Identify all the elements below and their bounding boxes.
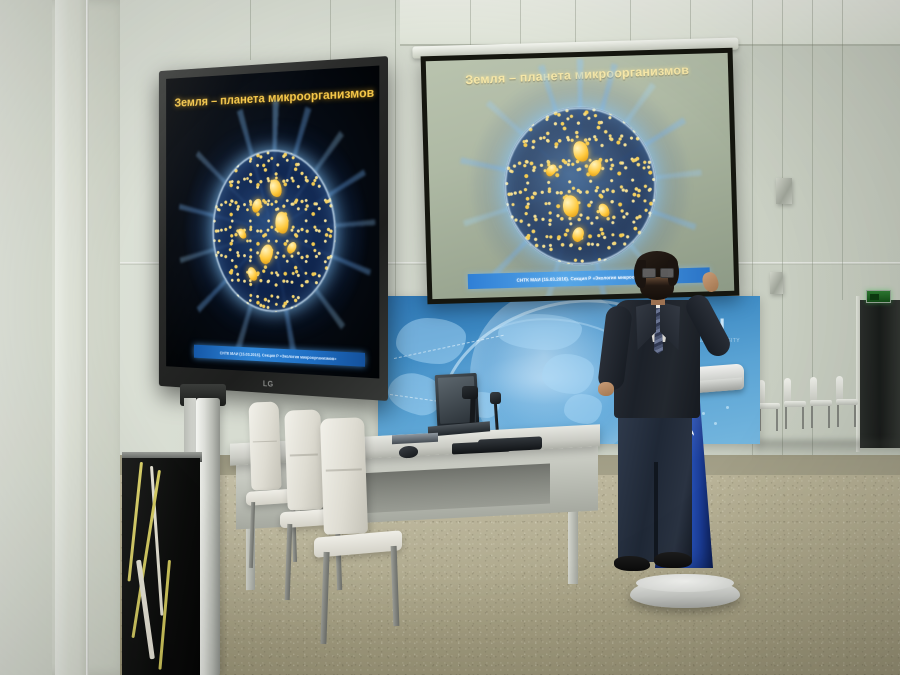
map-landmass — [498, 314, 582, 350]
presenter-shoe-right — [654, 552, 692, 568]
wall-seam — [395, 0, 396, 300]
tv-screen: Земля – планета микроорганизмов — [166, 66, 379, 379]
conference-room-photo: FU FINANCIAL UNIVERSITY Земля – планета … — [0, 0, 900, 675]
exit-sign — [866, 290, 891, 303]
wall-seam — [250, 0, 251, 60]
pilaster-edge-highlight — [86, 0, 89, 675]
projected-microorganism-sphere — [502, 104, 658, 266]
wall-speaker-lower — [770, 272, 783, 294]
wall-seam — [842, 0, 843, 300]
tv-slide-footer: СНТК МАИ (15.03.2016). Секция Р «Экологи… — [194, 345, 366, 367]
presenter — [596, 252, 716, 597]
lg-brand-logo: LG — [263, 379, 274, 388]
exit-door[interactable] — [860, 300, 900, 448]
presenter-leg-gap — [654, 462, 658, 560]
tv-microorganism-sphere — [212, 148, 336, 315]
map-landmass — [542, 354, 594, 394]
wall-seam — [782, 0, 783, 460]
presenter-glasses — [642, 268, 674, 276]
chair-row-shadow — [756, 440, 900, 456]
left-pilaster — [55, 0, 89, 675]
tv-slide-footer-text: СНТК МАИ (15.03.2016). Секция Р «Экологи… — [220, 350, 337, 361]
document-camera[interactable] — [462, 386, 478, 399]
wall-speaker-upper — [776, 178, 792, 204]
microphone-head[interactable] — [490, 392, 501, 404]
map-landmass — [396, 318, 466, 364]
plasma-tv: Земля – планета микроорганизмов — [159, 56, 388, 401]
tv-bezel: Земля – планета микроорганизмов — [159, 56, 388, 401]
presenter-shoe-left — [614, 556, 650, 571]
left-pilaster-back — [0, 0, 52, 675]
wall-seam — [330, 0, 331, 60]
presenter-hand-left — [598, 382, 614, 396]
